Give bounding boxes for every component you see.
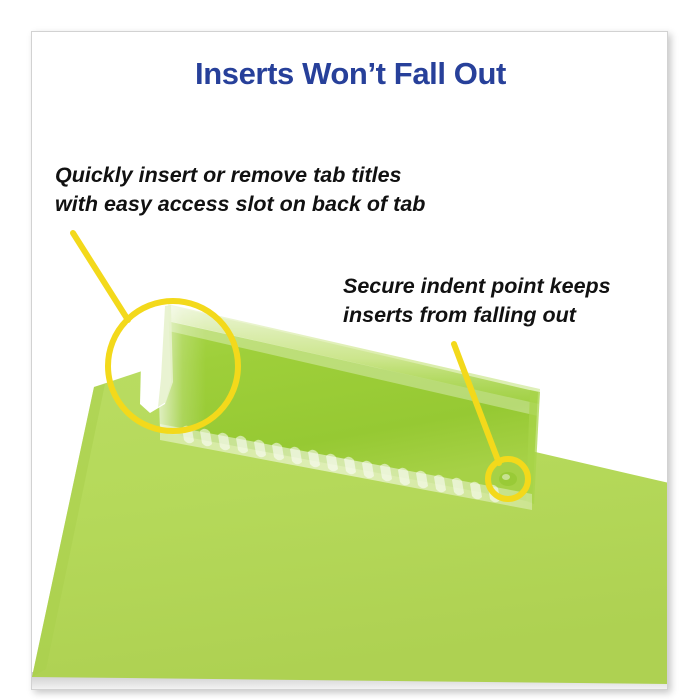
- product-photograph: [32, 32, 668, 690]
- callout-indent-point-line2: inserts from falling out: [343, 301, 611, 330]
- callout-indent-point: Secure indent point keeps inserts from f…: [343, 272, 611, 330]
- product-photo-card: Inserts Won’t Fall Out Quickly insert or…: [31, 31, 668, 690]
- secure-indent-point-highlight: [502, 474, 510, 480]
- leader-line-icon-left: [73, 233, 128, 320]
- screenshot-root: Inserts Won’t Fall Out Quickly insert or…: [0, 0, 700, 700]
- callout-access-slot: Quickly insert or remove tab titles with…: [55, 161, 425, 219]
- callout-access-slot-line2: with easy access slot on back of tab: [55, 190, 425, 219]
- callout-indent-point-line1: Secure indent point keeps: [343, 272, 611, 301]
- callout-access-slot-line1: Quickly insert or remove tab titles: [55, 161, 425, 190]
- page-title: Inserts Won’t Fall Out: [32, 56, 668, 92]
